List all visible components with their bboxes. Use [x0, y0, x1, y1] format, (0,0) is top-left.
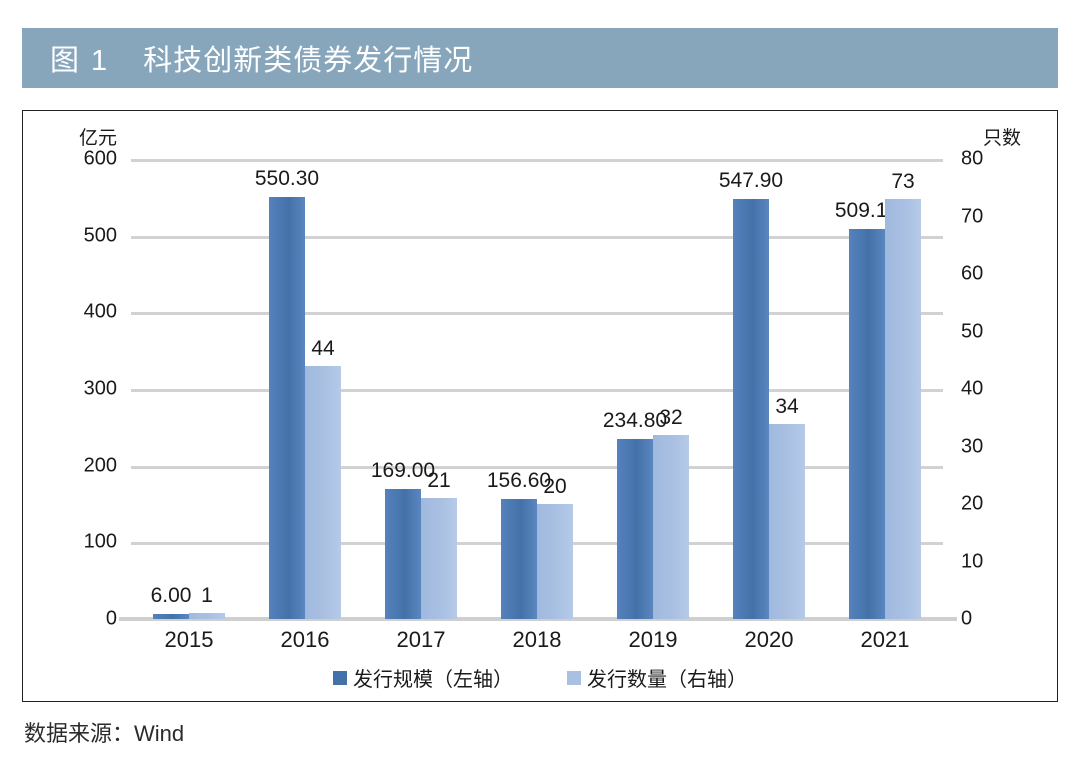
- bar-issuance-count: 1: [189, 613, 225, 619]
- left-tick-label: 400: [84, 301, 117, 324]
- legend-label: 发行数量（右轴）: [587, 663, 747, 692]
- legend-item: 发行规模（左轴）: [333, 663, 513, 692]
- left-tick-label: 600: [84, 148, 117, 171]
- bar-value-label: 550.30: [255, 167, 319, 191]
- figure-number: 图 1: [50, 37, 109, 79]
- bar-value-label: 21: [427, 469, 450, 493]
- bar-group: 156.6020: [479, 159, 595, 619]
- bar-value-label: 44: [311, 337, 334, 361]
- bar-value-label: 234.80: [603, 409, 667, 433]
- right-axis-unit-label: 只数: [983, 123, 1021, 150]
- right-tick-label: 80: [961, 148, 983, 171]
- bar-issuance-count: 34: [769, 424, 805, 620]
- left-tick-label: 0: [106, 608, 117, 631]
- legend-item: 发行数量（右轴）: [567, 663, 747, 692]
- x-tick-label: 2017: [363, 627, 479, 653]
- bar-group: 547.9034: [711, 159, 827, 619]
- right-tick-label: 60: [961, 263, 983, 286]
- x-tick-label: 2015: [131, 627, 247, 653]
- bar-value-label: 547.90: [719, 169, 783, 193]
- bar-issuance-count: 73: [885, 199, 921, 619]
- source-note: 数据来源：Wind: [24, 716, 184, 748]
- bar-value-label: 32: [659, 406, 682, 430]
- right-tick-label: 20: [961, 493, 983, 516]
- chart-card: 亿元 只数 0100200300400500600 01020304050607…: [22, 110, 1058, 702]
- bar-group: 6.001: [131, 159, 247, 619]
- bar-group: 509.1973: [827, 159, 943, 619]
- bar-issuance-scale: 6.00: [153, 614, 189, 619]
- bar-value-label: 20: [543, 475, 566, 499]
- legend-label: 发行规模（左轴）: [353, 663, 513, 692]
- legend-swatch-icon: [567, 671, 581, 685]
- plot-area: 0100200300400500600 01020304050607080 6.…: [131, 159, 943, 619]
- chart-legend: 发行规模（左轴）发行数量（右轴）: [23, 663, 1057, 692]
- bar-value-label: 169.00: [371, 459, 435, 483]
- x-tick-label: 2021: [827, 627, 943, 653]
- right-tick-label: 40: [961, 378, 983, 401]
- bar-value-label: 1: [201, 584, 213, 608]
- bar-groups: 6.001550.3044169.0021156.6020234.8032547…: [131, 159, 943, 619]
- bar-issuance-count: 21: [421, 498, 457, 619]
- right-tick-label: 0: [961, 608, 972, 631]
- left-axis-unit-label: 亿元: [79, 123, 117, 150]
- bar-group: 550.3044: [247, 159, 363, 619]
- bar-issuance-count: 32: [653, 435, 689, 619]
- left-tick-label: 300: [84, 378, 117, 401]
- right-tick-label: 10: [961, 550, 983, 573]
- bar-issuance-scale: 547.90: [733, 199, 769, 619]
- right-tick-label: 70: [961, 205, 983, 228]
- right-tick-label: 50: [961, 320, 983, 343]
- bar-issuance-count: 44: [305, 366, 341, 619]
- figure-page: 图 1 科技创新类债券发行情况 亿元 只数 010020030040050060…: [0, 0, 1080, 759]
- bar-group: 169.0021: [363, 159, 479, 619]
- figure-title: 科技创新类债券发行情况: [143, 37, 473, 79]
- x-tick-label: 2020: [711, 627, 827, 653]
- x-tick-label: 2019: [595, 627, 711, 653]
- left-tick-label: 100: [84, 531, 117, 554]
- bar-issuance-count: 20: [537, 504, 573, 619]
- x-tick-label: 2016: [247, 627, 363, 653]
- legend-swatch-icon: [333, 671, 347, 685]
- left-tick-label: 200: [84, 454, 117, 477]
- bar-issuance-scale: 550.30: [269, 197, 305, 619]
- bar-value-label: 34: [775, 395, 798, 419]
- x-axis-labels: 2015201620172018201920202021: [131, 627, 943, 653]
- bar-group: 234.8032: [595, 159, 711, 619]
- bar-value-label: 73: [891, 170, 914, 194]
- bar-value-label: 6.00: [151, 584, 192, 608]
- x-tick-label: 2018: [479, 627, 595, 653]
- bar-issuance-scale: 156.60: [501, 499, 537, 619]
- bar-value-label: 156.60: [487, 469, 551, 493]
- bar-issuance-scale: 509.19: [849, 229, 885, 619]
- right-tick-label: 30: [961, 435, 983, 458]
- bar-issuance-scale: 234.80: [617, 439, 653, 619]
- figure-header-band: 图 1 科技创新类债券发行情况: [22, 28, 1058, 88]
- bar-issuance-scale: 169.00: [385, 489, 421, 619]
- left-tick-label: 500: [84, 224, 117, 247]
